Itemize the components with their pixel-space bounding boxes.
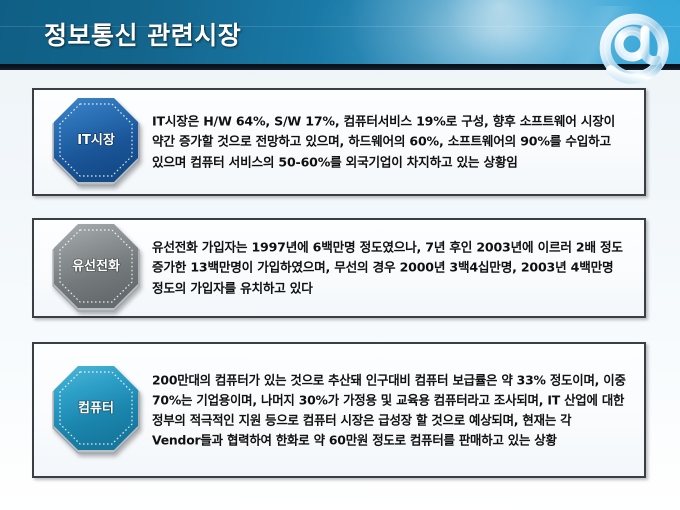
header-divider-rule [0, 64, 680, 70]
section-panel-it-market[interactable]: IT시장 IT시장은 H/W 64%, S/W 17%, 컴퓨터서비스 19%로… [32, 88, 646, 196]
octagon-badge-it-market: IT시장 [50, 96, 142, 188]
section-text-landline: 유선전화 가입자는 1997년에 6백만명 정도였으나, 7년 후인 2003년… [152, 237, 632, 298]
page-title: 정보통신 관련시장 [44, 16, 241, 52]
badge-label: IT시장 [77, 132, 115, 148]
badge-label: 유선전화 [72, 258, 120, 274]
section-panel-landline[interactable]: 유선전화 유선전화 가입자는 1997년에 6백만명 정도였으나, 7년 후인 … [32, 218, 646, 318]
section-text-it-market: IT시장은 H/W 64%, S/W 17%, 컴퓨터서비스 19%로 구성, … [152, 111, 632, 172]
section-text-computer: 200만대의 컴퓨터가 있는 것으로 추산돼 인구대비 컴퓨터 보급률은 약 3… [152, 370, 632, 449]
section-panel-computer[interactable]: 컴퓨터 200만대의 컴퓨터가 있는 것으로 추산돼 인구대비 컴퓨터 보급률은… [32, 342, 646, 478]
octagon-badge-icon: 유선전화 [50, 222, 142, 314]
octagon-badge-icon: 컴퓨터 [50, 364, 142, 456]
slide: 정보통신 관련시장 [0, 0, 680, 510]
header-light-ray [470, 6, 680, 64]
header-light-burst [300, 0, 680, 64]
octagon-badge-icon: IT시장 [50, 96, 142, 188]
octagon-badge-landline: 유선전화 [50, 222, 142, 314]
octagon-badge-computer: 컴퓨터 [50, 364, 142, 456]
badge-label: 컴퓨터 [78, 400, 114, 416]
